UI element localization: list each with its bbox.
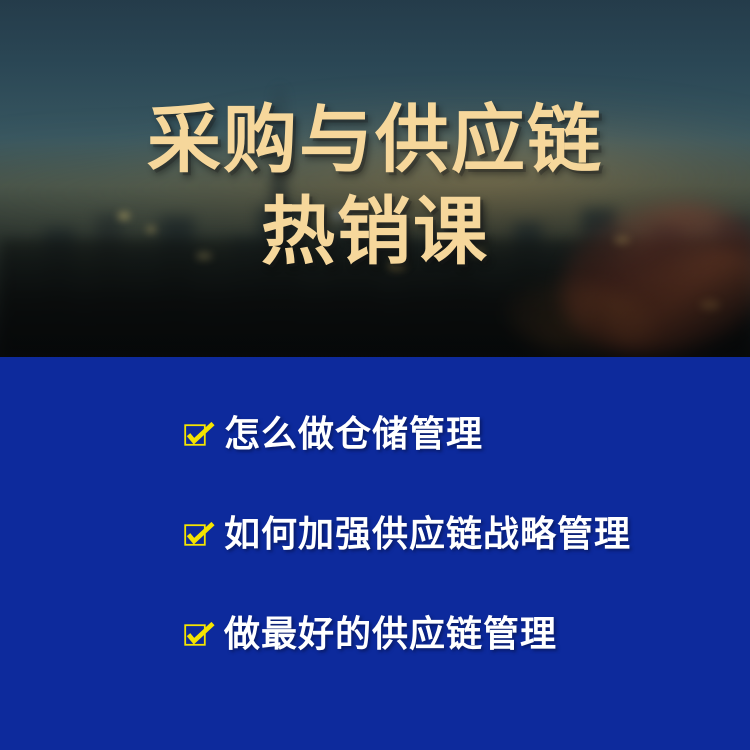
feature-bullet-list: 怎么做仓储管理 如何加强供应链战略管理 做最 bbox=[0, 405, 750, 663]
list-item[interactable]: 做最好的供应链管理 bbox=[0, 605, 750, 663]
checkbox-checked-icon bbox=[184, 522, 208, 546]
list-item-label: 怎么做仓储管理 bbox=[224, 416, 483, 452]
checkbox-checked-icon bbox=[184, 622, 208, 646]
title-line-secondary: 热销课 bbox=[261, 188, 489, 275]
list-item[interactable]: 怎么做仓储管理 bbox=[0, 405, 750, 463]
list-item-label: 如何加强供应链战略管理 bbox=[224, 516, 631, 552]
course-promo-poster: 采购与供应链 热销课 怎么做仓储管理 bbox=[0, 0, 750, 750]
checkbox-checked-icon bbox=[184, 422, 208, 446]
feature-panel: 怎么做仓储管理 如何加强供应链战略管理 做最 bbox=[0, 357, 750, 750]
poster-title: 采购与供应链 热销课 bbox=[0, 0, 750, 357]
list-item[interactable]: 如何加强供应链战略管理 bbox=[0, 505, 750, 563]
title-line-primary: 采购与供应链 bbox=[147, 96, 603, 183]
list-item-label: 做最好的供应链管理 bbox=[224, 616, 557, 652]
